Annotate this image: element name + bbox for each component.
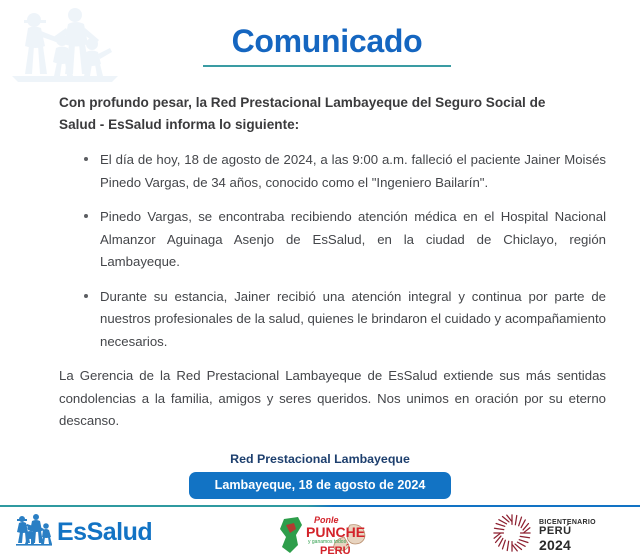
bicentenario-line3: 2024 <box>539 538 596 553</box>
closing-paragraph: La Gerencia de la Red Prestacional Lamba… <box>59 365 606 433</box>
list-item: Pinedo Vargas, se encontraba recibiendo … <box>100 206 606 274</box>
date-badge-row: Lambayeque, 18 de agosto de 2024 <box>0 472 640 499</box>
essalud-family-icon <box>14 513 54 552</box>
title-underline <box>203 65 451 67</box>
bicentenario-line2: PERÚ <box>539 526 596 538</box>
punche-line2: PUNCHE <box>306 524 365 540</box>
punche-line4: PERÚ <box>320 544 351 557</box>
list-item-text: El día de hoy, 18 de agosto de 2024, a l… <box>100 152 606 190</box>
essalud-wordmark: EsSalud <box>57 520 152 545</box>
peru-map-icon <box>280 517 302 553</box>
bicentenario-text: BICENTENARIO PERÚ 2024 <box>539 519 596 553</box>
announcement-body: Con profundo pesar, la Red Prestacional … <box>0 92 640 499</box>
bullet-dot-icon <box>84 157 88 161</box>
comunicado-page: Comunicado Con profundo pesar, la Red Pr… <box>0 0 640 559</box>
bicentenario-sunburst-icon <box>492 513 532 558</box>
footer: EsSalud Ponle PUNCHE y ganamos todos PER… <box>0 507 640 559</box>
signature-org: Red Prestacional Lambayeque <box>0 452 640 466</box>
essalud-logo: EsSalud <box>14 513 152 552</box>
page-title: Comunicado <box>203 22 451 60</box>
page-title-block: Comunicado <box>203 22 451 67</box>
lead-paragraph: Con profundo pesar, la Red Prestacional … <box>59 92 581 136</box>
bicentenario-logo: BICENTENARIO PERÚ 2024 <box>492 513 596 558</box>
ponle-punche-peru-logo: Ponle PUNCHE y ganamos todos PERÚ <box>268 511 380 557</box>
family-figures-watermark-icon <box>6 4 124 86</box>
list-item: Durante su estancia, Jainer recibió una … <box>100 286 606 354</box>
list-item-text: Pinedo Vargas, se encontraba recibiendo … <box>100 209 606 269</box>
bullet-dot-icon <box>84 294 88 298</box>
header: Comunicado <box>0 0 640 92</box>
date-badge: Lambayeque, 18 de agosto de 2024 <box>189 472 452 499</box>
bullet-list: El día de hoy, 18 de agosto de 2024, a l… <box>0 149 640 353</box>
list-item-text: Durante su estancia, Jainer recibió una … <box>100 289 606 349</box>
list-item: El día de hoy, 18 de agosto de 2024, a l… <box>100 149 606 194</box>
bullet-dot-icon <box>84 214 88 218</box>
